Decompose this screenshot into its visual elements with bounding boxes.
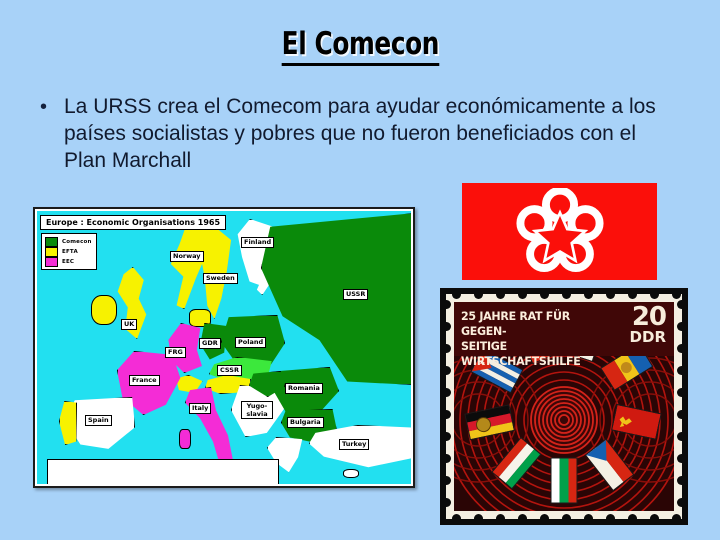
map-label-uk: UK bbox=[121, 319, 137, 330]
stamp-perforation bbox=[584, 514, 593, 519]
comecon-flag-image bbox=[462, 183, 657, 280]
stamp-perforation bbox=[584, 294, 593, 299]
stamp-value-block: 20 DDR bbox=[630, 305, 666, 346]
slide-canvas: El Comecon • La URSS crea el Comecom par… bbox=[0, 0, 720, 540]
stamp-title-line-2: SEITIGE WIRTSCHAFTSHILFE bbox=[461, 339, 607, 369]
legend-label-eec: EEC bbox=[62, 258, 74, 266]
map-region-italy bbox=[185, 387, 235, 465]
map-label-sweden: Sweden bbox=[203, 273, 238, 284]
map-label-ussr: USSR bbox=[343, 289, 368, 300]
map-legend: Comecon EFTA EEC bbox=[41, 233, 97, 270]
comecon-flower-star-emblem-icon bbox=[516, 188, 604, 276]
stamp-perforation bbox=[446, 476, 451, 485]
stamp-artwork-area: 25 JAHRE RAT FÜR GEGEN- SEITIGE WIRTSCHA… bbox=[454, 302, 674, 511]
legend-item-efta: EFTA bbox=[45, 247, 92, 256]
stamp-perforation bbox=[540, 514, 549, 519]
stamp-perforation bbox=[606, 514, 615, 519]
stamp-perforation bbox=[446, 410, 451, 419]
map-canvas: Norway Sweden Finland UK USSR Poland FRG… bbox=[37, 211, 411, 484]
map-region-ussr bbox=[261, 213, 411, 385]
bullet-marker-icon: • bbox=[36, 93, 64, 121]
stamp-perforation bbox=[446, 498, 451, 507]
stamp-perforation bbox=[452, 294, 461, 299]
map-region-north-africa bbox=[47, 459, 279, 484]
map-label-frg: FRG bbox=[165, 347, 186, 358]
stamp-perforation bbox=[446, 432, 451, 441]
stamp-perforation bbox=[496, 294, 505, 299]
stamp-title-line-1: 25 JAHRE RAT FÜR GEGEN- bbox=[461, 309, 607, 339]
map-label-finland: Finland bbox=[241, 237, 274, 248]
legend-item-comecon: Comecon bbox=[45, 237, 92, 246]
map-label-gdr: GDR bbox=[199, 338, 221, 349]
stamp-perforation bbox=[446, 322, 451, 331]
stamp-perforation bbox=[628, 514, 637, 519]
stamp-perforation bbox=[677, 322, 682, 331]
map-label-bulgaria: Bulgaria bbox=[287, 417, 324, 428]
stamp-perforation bbox=[518, 294, 527, 299]
bullet-list: • La URSS crea el Comecom para ayudar ec… bbox=[36, 93, 676, 174]
map-region-sardinia bbox=[179, 429, 191, 449]
stamp-title-text: 25 JAHRE RAT FÜR GEGEN- SEITIGE WIRTSCHA… bbox=[461, 309, 607, 369]
stamp-perforation bbox=[628, 294, 637, 299]
map-label-norway: Norway bbox=[170, 251, 204, 262]
stamp-perforation bbox=[677, 454, 682, 463]
map-region-cyprus bbox=[343, 469, 359, 478]
stamp-flag-bulgaria bbox=[551, 458, 578, 504]
stamp-perforation bbox=[677, 344, 682, 353]
map-label-cssr: CSSR bbox=[217, 365, 242, 376]
legend-label-efta: EFTA bbox=[62, 248, 78, 256]
stamp-perforation bbox=[677, 300, 682, 309]
stamp-perforation bbox=[677, 432, 682, 441]
stamp-perforation bbox=[496, 514, 505, 519]
stamp-perforation bbox=[672, 294, 681, 299]
stamp-perforation bbox=[446, 300, 451, 309]
stamp-country-code: DDR bbox=[630, 329, 666, 346]
stamp-perforation bbox=[677, 410, 682, 419]
bullet-body-text: La URSS crea el Comecom para ayudar econ… bbox=[64, 93, 664, 174]
ddr-comecon-stamp-image: 25 JAHRE RAT FÜR GEGEN- SEITIGE WIRTSCHA… bbox=[440, 288, 688, 525]
stamp-perforation bbox=[650, 514, 659, 519]
map-title: Europe : Economic Organisations 1965 bbox=[40, 215, 226, 230]
stamp-perforation bbox=[677, 366, 682, 375]
stamp-perforation bbox=[474, 514, 483, 519]
stamp-perforation bbox=[452, 514, 461, 519]
stamp-perforation bbox=[677, 476, 682, 485]
map-label-spain: Spain bbox=[85, 415, 112, 426]
stamp-perforation bbox=[650, 294, 659, 299]
map-label-poland: Poland bbox=[235, 337, 266, 348]
map-label-france: France bbox=[129, 375, 160, 386]
stamp-perforation bbox=[446, 388, 451, 397]
stamp-perforation bbox=[518, 514, 527, 519]
legend-label-comecon: Comecon bbox=[62, 238, 92, 246]
map-label-turkey: Turkey bbox=[339, 439, 369, 450]
map-label-romania: Romania bbox=[285, 383, 323, 394]
stamp-perforation bbox=[672, 514, 681, 519]
legend-swatch-efta bbox=[45, 247, 58, 257]
legend-item-eec: EEC bbox=[45, 257, 92, 266]
stamp-perforation bbox=[606, 294, 615, 299]
slide-title: El Comecon bbox=[0, 26, 720, 66]
stamp-denomination: 20 bbox=[630, 305, 666, 329]
legend-swatch-comecon bbox=[45, 237, 58, 247]
stamp-perforation bbox=[446, 454, 451, 463]
stamp-paper: 25 JAHRE RAT FÜR GEGEN- SEITIGE WIRTSCHA… bbox=[446, 294, 682, 519]
stamp-perforation bbox=[677, 498, 682, 507]
map-label-italy: Italy bbox=[189, 403, 211, 414]
stamp-perforation bbox=[474, 294, 483, 299]
stamp-perforation bbox=[540, 294, 549, 299]
map-region-ireland bbox=[91, 295, 117, 325]
page-title: El Comecon bbox=[281, 26, 438, 66]
map-region-portugal bbox=[59, 401, 77, 445]
stamp-perforation bbox=[446, 344, 451, 353]
stamp-perforation bbox=[562, 514, 571, 519]
stamp-perforation bbox=[446, 366, 451, 375]
stamp-perforation bbox=[677, 388, 682, 397]
stamp-perforation bbox=[562, 294, 571, 299]
legend-swatch-eec bbox=[45, 257, 58, 267]
map-label-yugoslavia: Yugo-slavia bbox=[241, 401, 273, 419]
europe-economic-organisations-map: Norway Sweden Finland UK USSR Poland FRG… bbox=[33, 207, 415, 488]
